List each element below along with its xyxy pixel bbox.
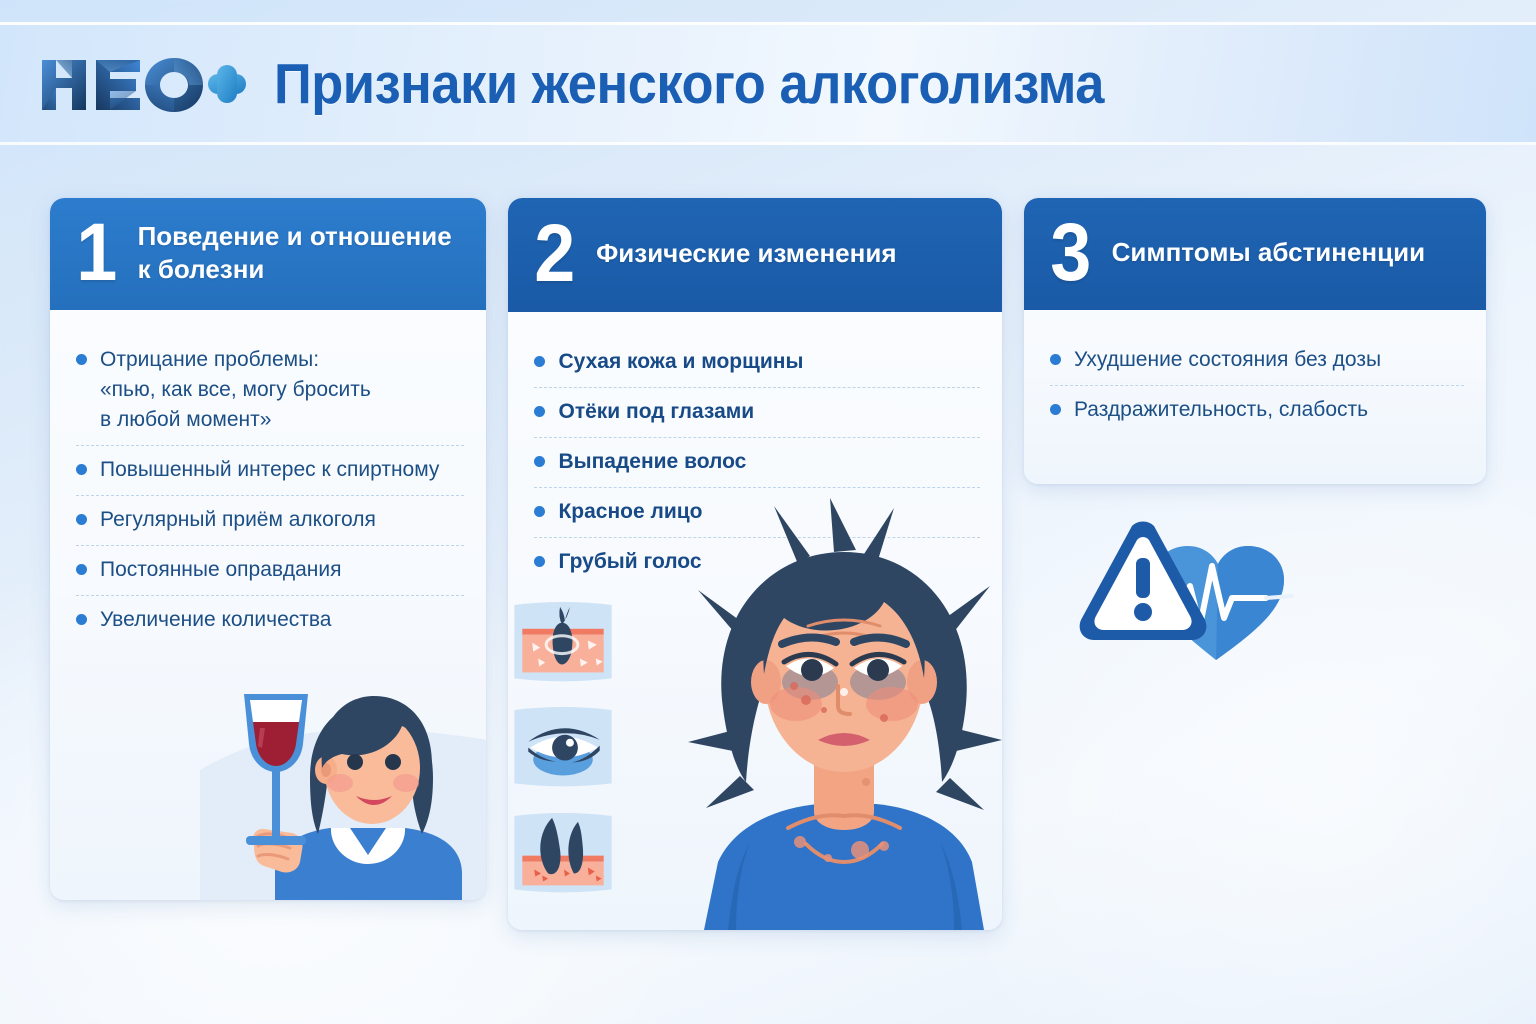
list-item: Сухая кожа и морщины [534,338,980,388]
card-3-body: Ухудшение состояния без дозы Раздражител… [1024,310,1486,445]
card-1-list: Отрицание проблемы: «пью, как все, могу … [76,336,464,645]
list-item: Отёки под глазами [534,388,980,438]
list-item-label: Повышенный интерес к спиртному [100,455,439,485]
list-item: Раздражительность, слабость [1050,386,1464,435]
symptom-icon-stack [508,597,618,897]
list-item: Ухудшение состояния без дозы [1050,336,1464,386]
neo-plus-logo [36,52,248,116]
card-3-number: 3 [1050,219,1091,286]
card-3-title: Симптомы абстиненции [1112,236,1425,269]
card-2-list: Сухая кожа и морщины Отёки под глазами В… [534,338,980,587]
list-item-label: Выпадение волос [558,447,746,477]
bullet-dot-icon [534,506,545,517]
hair-loss-icon [508,808,618,897]
card-3-wrapper: 3 Симптомы абстиненции Ухудшение состоян… [1024,198,1486,484]
bullet-dot-icon [76,354,87,365]
bullet-dot-icon [76,514,87,525]
card-2-number: 2 [535,220,576,287]
card-withdrawal-symptoms: 3 Симптомы абстиненции Ухудшение состоян… [1024,198,1486,484]
page-header: Признаки женского алкоголизма [0,22,1536,145]
woman-with-wine-glass-illustration [200,650,486,900]
list-item: Выпадение волос [534,438,980,488]
skin-follicle-icon [508,597,618,686]
card-1-title: Поведение и отношение к болезни [138,220,467,286]
list-item-label: Постоянные оправдания [100,555,341,585]
tired-eye-icon [508,702,618,791]
list-item: Отрицание проблемы: «пью, как все, могу … [76,336,464,446]
card-1-body: Отрицание проблемы: «пью, как все, могу … [50,310,486,655]
bullet-dot-icon [1050,354,1061,365]
bullet-dot-icon [534,356,545,367]
list-item-label: Красное лицо [558,497,702,527]
bullet-dot-icon [534,456,545,467]
list-item-label: Увеличение количества [100,605,331,635]
card-2-title: Физические изменения [596,237,896,270]
card-2-body: Сухая кожа и морщины Отёки под глазами В… [508,312,1002,597]
list-item-label: Отрицание проблемы: «пью, как все, могу … [100,345,371,435]
list-item: Грубый голос [534,538,980,587]
list-item-label: Грубый голос [558,547,701,577]
warning-and-heartbeat-illustration [1066,514,1336,664]
list-item: Повышенный интерес к спиртному [76,446,464,496]
list-item: Регулярный приём алкоголя [76,496,464,546]
card-2-header: 2 Физические изменения [508,198,1002,312]
bullet-dot-icon [534,556,545,567]
cards-row: 1 Поведение и отношение к болезни Отрица… [0,198,1536,930]
card-1-number: 1 [76,219,117,286]
list-item: Постоянные оправдания [76,546,464,596]
card-1-header: 1 Поведение и отношение к болезни [50,198,486,310]
card-behaviour: 1 Поведение и отношение к болезни Отрица… [50,198,486,900]
card-3-list: Ухудшение состояния без дозы Раздражител… [1050,336,1464,435]
card-3-header: 3 Симптомы абстиненции [1024,198,1486,310]
bullet-dot-icon [76,464,87,475]
page-title: Признаки женского алкоголизма [274,51,1104,117]
card-physical-changes: 2 Физические изменения Сухая кожа и морщ… [508,198,1002,930]
list-item: Увеличение количества [76,596,464,645]
list-item-label: Ухудшение состояния без дозы [1074,345,1381,375]
bullet-dot-icon [76,564,87,575]
bullet-dot-icon [76,614,87,625]
bullet-dot-icon [534,406,545,417]
list-item-label: Раздражительность, слабость [1074,395,1368,425]
bullet-dot-icon [1050,404,1061,415]
list-item: Красное лицо [534,488,980,538]
list-item-label: Регулярный приём алкоголя [100,505,376,535]
list-item-label: Сухая кожа и морщины [558,347,803,377]
list-item-label: Отёки под глазами [558,397,754,427]
